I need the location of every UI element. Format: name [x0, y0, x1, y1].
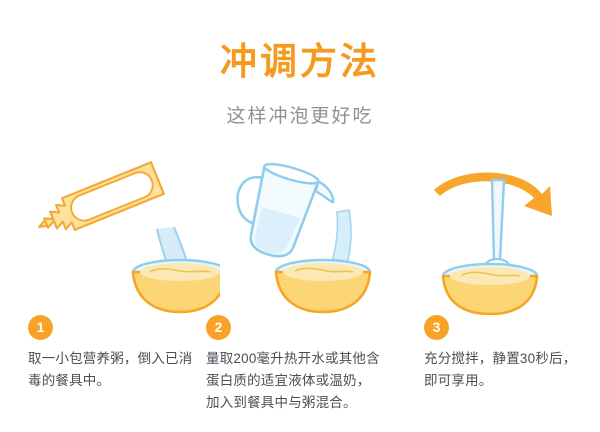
- pitcher-pouring-water-into-bowl-icon: [205, 150, 405, 315]
- step-item-3: 3 充分搅拌，静置30秒后，即可享用。: [424, 315, 600, 392]
- steps-row: 1 取一小包营养粥，倒入已消毒的餐具中。 2 量取200毫升热开水或其他含蛋白质…: [0, 315, 600, 432]
- page-subtitle: 这样冲泡更好吃: [0, 101, 600, 128]
- sachet-pouring-into-bowl-icon: [20, 150, 220, 315]
- step-item-2: 2 量取200毫升热开水或其他含蛋白质的适宜液体或温奶，加入到餐具中与粥混合。: [206, 315, 386, 414]
- step-text-1: 取一小包营养粥，倒入已消毒的餐具中。: [28, 348, 204, 392]
- step-badge-1: 1: [28, 315, 53, 340]
- step-badge-3: 3: [424, 315, 449, 340]
- step-text-2: 量取200毫升热开水或其他含蛋白质的适宜液体或温奶，加入到餐具中与粥混合。: [206, 348, 382, 414]
- step-text-3: 充分搅拌，静置30秒后，即可享用。: [424, 348, 584, 392]
- step-badge-2: 2: [206, 315, 231, 340]
- page-title: 冲调方法: [0, 42, 600, 83]
- spoon-stirring-bowl-icon: [400, 150, 600, 315]
- instruction-card: 冲调方法 这样冲泡更好吃: [0, 0, 600, 432]
- illustration-row: [0, 150, 600, 315]
- step-item-1: 1 取一小包营养粥，倒入已消毒的餐具中。: [28, 315, 208, 392]
